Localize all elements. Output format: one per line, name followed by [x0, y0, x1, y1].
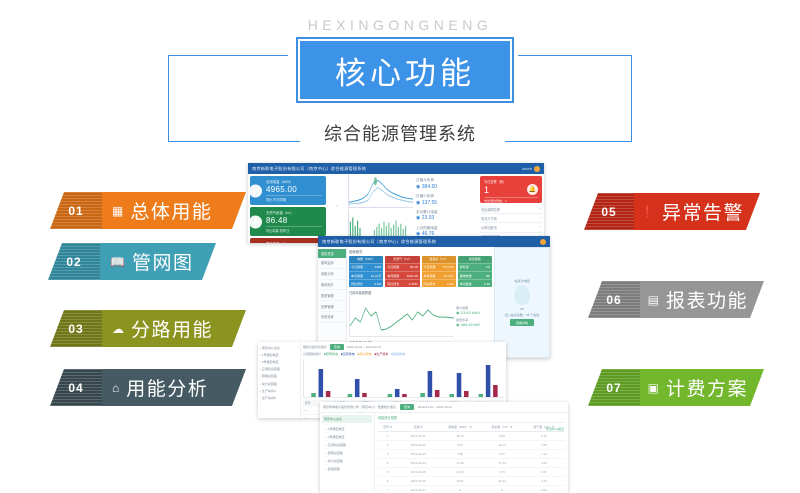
- stat-row: 本月用量91.24万: [349, 271, 383, 279]
- legend-item: ■照明用电: [324, 352, 338, 356]
- avatar: [540, 239, 546, 245]
- toolbar-label: 南京新联电子股份有限公司（南京中心） 数据统计报表: [323, 405, 396, 409]
- home-circle-icon: ⌂: [112, 382, 119, 394]
- tree-item[interactable]: › 其他回路: [324, 465, 370, 473]
- avatar: [534, 166, 540, 172]
- export-button[interactable]: 导出Excel报表: [546, 427, 564, 431]
- tree-item[interactable]: › 2号楼配电室: [324, 433, 370, 441]
- shot1-title: 南京新联电子股份有限公司（南京中心）综合能源管理系统: [252, 166, 366, 172]
- stat-box-list: 电能（kWh）今日用量4965本月用量91.24万同比增长4.6%天然气（m³）…: [349, 256, 492, 287]
- stat-row: 同比增长4.6%: [349, 279, 383, 287]
- kpi-card[interactable]: ▣蒸汽用量（t）0同比增量 较昨日: [250, 238, 326, 243]
- stat-row: 碳排放量68t: [458, 271, 492, 279]
- tree-item[interactable]: › 1号楼配电室: [260, 351, 298, 358]
- table-row: 22019-01-025.8110.130.08: [378, 441, 565, 450]
- stat-row: 今日用量4965: [349, 263, 383, 271]
- alert-row[interactable]: 电压越限告警›: [480, 205, 542, 214]
- tree-item[interactable]: › 1号楼配电室: [324, 425, 370, 433]
- tree-item[interactable]: › 空调机房回路: [260, 366, 298, 373]
- feature-number-07: 07: [588, 369, 640, 406]
- table-row: 42019-01-0413.2617.240.06: [378, 459, 565, 468]
- table-row: 32019-01-033.863.071.12: [378, 450, 565, 459]
- chart-tag-power: ⚡: [329, 204, 345, 208]
- map-value: 68: [520, 307, 523, 311]
- legend-item: ■生产用电: [374, 352, 388, 356]
- map-note: 接入站点总数：68 个在线: [505, 313, 539, 317]
- table-row: 12019-01-0115.709.060.11: [378, 432, 565, 441]
- table-header-cell[interactable]: 日期 ⇅: [397, 423, 439, 431]
- tree-item[interactable]: › 空调机房回路: [324, 441, 370, 449]
- chart1-legend: 累计用量◉ 23.93 kWh峰值负荷◉ 384.50 kW: [456, 296, 492, 337]
- stat-box: 自来水（m³）今日用量3712.00本月用量10.21万同比增长2.4%: [422, 256, 456, 287]
- line-chart-block: ⚡: [329, 176, 413, 208]
- table-body: 12019-01-0115.709.060.1122019-01-025.811…: [378, 432, 565, 493]
- shot3-tree[interactable]: › 南京中心总表› 1号楼配电室› 2号楼配电室› 空调机房回路› 照明总回路›…: [258, 342, 301, 418]
- feature-number-03: 03: [50, 310, 102, 347]
- tree-item[interactable]: › 动力总回路: [324, 457, 370, 465]
- tree-item[interactable]: › 2号楼配电室: [260, 358, 298, 365]
- sidebar-item[interactable]: 报表管理: [318, 290, 346, 301]
- tree-item-selected[interactable]: 南京中心总表: [322, 415, 372, 423]
- kpi-title: 蒸汽用量（t）: [266, 241, 322, 243]
- kpi-title: 总用电量（kWh）: [266, 179, 322, 184]
- sidebar-item-active[interactable]: 首页总览: [318, 249, 346, 258]
- daily-line-chart: [349, 296, 454, 337]
- stat-row: 同比增长2.4%: [422, 279, 456, 287]
- chart-legend: ■照明用电■空调用电■动力用电■生产用电■其他用电: [324, 352, 408, 356]
- chart1-title: 日用电量趋势图: [349, 290, 492, 295]
- feature-ribbon-04[interactable]: 04⌂用能分析: [50, 369, 246, 406]
- metric-label: 日最小负荷: [416, 194, 434, 198]
- metric-label: 本月累计用量: [416, 210, 438, 214]
- stat-row: 本月用量2931.08: [385, 271, 419, 279]
- kpi-value: 4965.00: [266, 185, 322, 194]
- feature-body: 📖管网图: [100, 243, 216, 280]
- sidebar-item[interactable]: 系统设置: [318, 312, 346, 323]
- stat-row: 本月用量10.21万: [422, 271, 456, 279]
- stat-header: 电能（kWh）: [349, 256, 383, 263]
- table-row: 62019-01-0623.8123.144.74: [378, 477, 565, 486]
- feature-ribbon-05[interactable]: 05❗异常告警: [584, 193, 760, 230]
- legend-item: 累计用量◉ 23.93 kWh: [456, 306, 492, 315]
- kpi-card[interactable]: ♠天然气用量（m³）86.48环比增量 较昨日: [250, 207, 326, 236]
- tree-item[interactable]: › 南京中心总表: [260, 344, 298, 351]
- legend-item: ■其他用电: [391, 352, 405, 356]
- feature-body: ⌂用能分析: [102, 369, 246, 406]
- shot2-title: 南京新联电子股份有限公司（南京中心）综合能源管理系统: [322, 239, 436, 245]
- shot4-tree[interactable]: 南京中心总表 › 1号楼配电室› 2号楼配电室› 空调机房回路› 照明总回路› …: [320, 413, 375, 491]
- shot1-user: admin: [522, 167, 532, 171]
- map-detail-button[interactable]: 查看详情: [510, 319, 534, 326]
- tree-item[interactable]: › 动力总回路: [260, 380, 298, 387]
- feature-ribbon-01[interactable]: 01▦总体用能: [50, 192, 246, 229]
- table-header: 序号 ⇅日期 ⇅用电量（kWh） ⇅用水量（m³） ⇅用气量（m³） ⇅: [378, 423, 565, 432]
- query-button[interactable]: 查询: [330, 344, 344, 350]
- kpi-card[interactable]: ⚡总用电量（kWh）4965.00同比 昨日同期: [250, 176, 326, 205]
- dashboard-screenshot-report[interactable]: 南京新联电子股份有限公司（南京中心） 数据统计报表 查询 2019-01-01 …: [320, 402, 568, 493]
- metric-label: 上月同期用量: [416, 226, 438, 230]
- date-range[interactable]: 2019-01-01 ~ 2019-12-31: [347, 345, 381, 349]
- category-bar-chart: [303, 359, 504, 398]
- stat-header: 综合能耗: [458, 256, 492, 263]
- legend-item: ■空调用电: [341, 352, 355, 356]
- shot4-table: 序号 ⇅日期 ⇅用电量（kWh） ⇅用水量（m³） ⇅用气量（m³） ⇅ 120…: [378, 423, 565, 493]
- chart-monitor-icon: ▦: [112, 205, 123, 217]
- panel-title: 用能统计报表: [378, 415, 565, 423]
- metric-label: 日最大负荷: [416, 178, 434, 182]
- eyebrow-text: HEXINGONGNENG: [0, 17, 800, 33]
- tree-item[interactable]: › 照明总回路: [260, 373, 298, 380]
- toolbar-label: 能耗分类对比统计: [303, 345, 327, 349]
- alert-card[interactable]: 今日告警（条） 1 未处理告警数：1 🔔: [480, 176, 542, 203]
- table-header-cell[interactable]: 用电量（kWh） ⇅: [439, 423, 481, 431]
- shot1-titlebar: 南京新联电子股份有限公司（南京中心）综合能源管理系统 admin: [248, 163, 544, 174]
- sidebar-item[interactable]: 管网拓扑: [318, 280, 346, 291]
- section-title: 能耗概览: [349, 249, 492, 254]
- tree-item[interactable]: › 照明总回路: [324, 449, 370, 457]
- alert-panel: 今日告警（条） 1 未处理告警数：1 🔔 电压越限告警›电流不平衡›功率因数低›…: [478, 174, 544, 243]
- feature-label: 异常告警: [662, 198, 744, 225]
- table-row: 52019-01-0514.206.730.47: [378, 468, 565, 477]
- feature-ribbon-03[interactable]: 03☁分路用能: [50, 310, 246, 347]
- metric-row: 日最小负荷◉ 137.55: [416, 194, 476, 207]
- feature-body: ❗异常告警: [634, 193, 760, 230]
- date-range[interactable]: 2019-01-01 ~ 2019-12-31: [418, 405, 452, 409]
- page-title-box: 核心功能: [298, 39, 512, 101]
- shot4-toolbar[interactable]: 南京新联电子股份有限公司（南京中心） 数据统计报表 查询 2019-01-01 …: [320, 402, 568, 413]
- sidebar-item[interactable]: 能耗监测: [318, 258, 346, 269]
- stat-header: 天然气（m³）: [385, 256, 419, 263]
- feature-label: 总体用能: [130, 197, 212, 224]
- feature-number-02: 02: [48, 243, 100, 280]
- stat-row: 今日用量3712.00: [422, 263, 456, 271]
- sidebar-item[interactable]: 用能分析: [318, 269, 346, 280]
- feature-number-05: 05: [584, 193, 634, 230]
- table-header-cell[interactable]: 用水量（m³） ⇅: [481, 423, 523, 431]
- bell-icon: 🔔: [527, 184, 538, 195]
- stat-row: 单位能耗0.38: [458, 279, 492, 287]
- stat-box: 天然气（m³）今日用量86.48本月用量2931.08同比增长-1.08%: [385, 256, 419, 287]
- metric-value: ◉ 384.50: [416, 184, 437, 190]
- table-row: 72019-01-07000.00: [378, 486, 565, 493]
- stat-row: 折标煤27t: [458, 263, 492, 271]
- metric-list: 日最大负荷◉ 384.50日最小负荷◉ 137.55本月累计用量◉ 23.93上…: [414, 174, 478, 243]
- report-card-icon: ▤: [648, 294, 659, 306]
- stat-box: 电能（kWh）今日用量4965本月用量91.24万同比增长4.6%: [349, 256, 383, 287]
- alert-footer: 未处理告警数：1: [484, 197, 538, 203]
- stat-box: 综合能耗折标煤27t碳排放量68t单位能耗0.38: [458, 256, 492, 287]
- shot3-toolbar[interactable]: 能耗分类对比统计 查询 2019-01-01 ~ 2019-12-31: [303, 344, 504, 350]
- legend-item: 峰值负荷◉ 384.50 kW: [456, 318, 492, 327]
- feature-body: ▦总体用能: [102, 192, 246, 229]
- shot1-charts: ⚡ ◆: [328, 174, 414, 243]
- page-subtitle: 综合能源管理系统: [0, 120, 800, 146]
- page-title: 核心功能: [335, 48, 475, 93]
- poster-canvas: HEXINGONGNENG 核心功能 综合能源管理系统 01▦总体用能02📖管网…: [0, 0, 800, 493]
- feature-ribbon-02[interactable]: 02📖管网图: [48, 243, 216, 280]
- feature-number-04: 04: [50, 369, 102, 406]
- dashboard-screenshot-energy[interactable]: 南京新联电子股份有限公司（南京中心）综合能源管理系统 首页总览 能耗监测用能分析…: [318, 236, 550, 358]
- feature-label: 分路用能: [131, 315, 213, 342]
- feature-body: ▣计费方案: [640, 369, 764, 406]
- metric-row: 日最大负荷◉ 384.50: [416, 178, 476, 191]
- feature-body: ▤报表功能: [640, 281, 764, 318]
- cloud-icon: ☁: [112, 323, 124, 335]
- feature-label: 用能分析: [126, 374, 208, 401]
- kpi-value: 86.48: [266, 216, 322, 225]
- kpi-title: 天然气用量（m³）: [266, 210, 322, 215]
- kpi-footer: 同比 昨日同期: [266, 195, 322, 202]
- stat-header: 自来水（m³）: [422, 256, 456, 263]
- metric-row: 本月累计用量◉ 23.93: [416, 210, 476, 223]
- metric-value: ◉ 23.93: [416, 215, 434, 221]
- alert-row[interactable]: 电流不平衡›: [480, 214, 542, 223]
- bolt-icon: ⚡: [249, 184, 262, 197]
- feature-label: 报表功能: [666, 286, 748, 313]
- legend-item: ■动力用电: [358, 352, 372, 356]
- feature-label: 管网图: [132, 248, 194, 275]
- map-pin-icon: [514, 285, 530, 305]
- sidebar-item[interactable]: 告警管理: [318, 301, 346, 312]
- camera-icon: ▣: [648, 382, 659, 394]
- kpi-card-list: ⚡总用电量（kWh）4965.00同比 昨日同期♠天然气用量（m³）86.48环…: [248, 174, 328, 243]
- dashboard-screenshot-overview[interactable]: 南京新联电子股份有限公司（南京中心）综合能源管理系统 admin ⚡总用电量（k…: [248, 163, 544, 243]
- metric-value: ◉ 137.55: [416, 200, 437, 206]
- feature-ribbon-06[interactable]: 06▤报表功能: [588, 281, 764, 318]
- book-open-icon: 📖: [110, 256, 125, 268]
- query-button[interactable]: 查询: [400, 404, 414, 410]
- tree-item[interactable]: › 生产车间A: [260, 387, 298, 394]
- feature-number-06: 06: [588, 281, 640, 318]
- kpi-footer: 环比增量 较昨日: [266, 226, 322, 233]
- shot2-titlebar: 南京新联电子股份有限公司（南京中心）综合能源管理系统: [318, 236, 550, 247]
- tree-item[interactable]: › 生产车间B: [260, 394, 298, 401]
- feature-ribbon-07[interactable]: 07▣计费方案: [588, 369, 764, 406]
- stat-row: 今日用量86.48: [385, 263, 419, 271]
- alert-person-icon: ❗: [640, 206, 655, 218]
- feature-label: 计费方案: [666, 374, 748, 401]
- alert-row[interactable]: 功率因数低›: [480, 223, 542, 232]
- load-line-chart: [348, 175, 413, 208]
- stat-row: 同比增长-1.08%: [385, 279, 419, 287]
- feature-body: ☁分路用能: [102, 310, 246, 347]
- chart-title: 分项能耗统计: [303, 352, 321, 356]
- feature-number-01: 01: [50, 192, 102, 229]
- table-header-cell[interactable]: 序号 ⇅: [378, 423, 397, 431]
- map-title: 站点分布图: [514, 279, 529, 283]
- shot1-body: ⚡总用电量（kWh）4965.00同比 昨日同期♠天然气用量（m³）86.48环…: [248, 174, 544, 243]
- gas-icon: ♠: [249, 215, 262, 228]
